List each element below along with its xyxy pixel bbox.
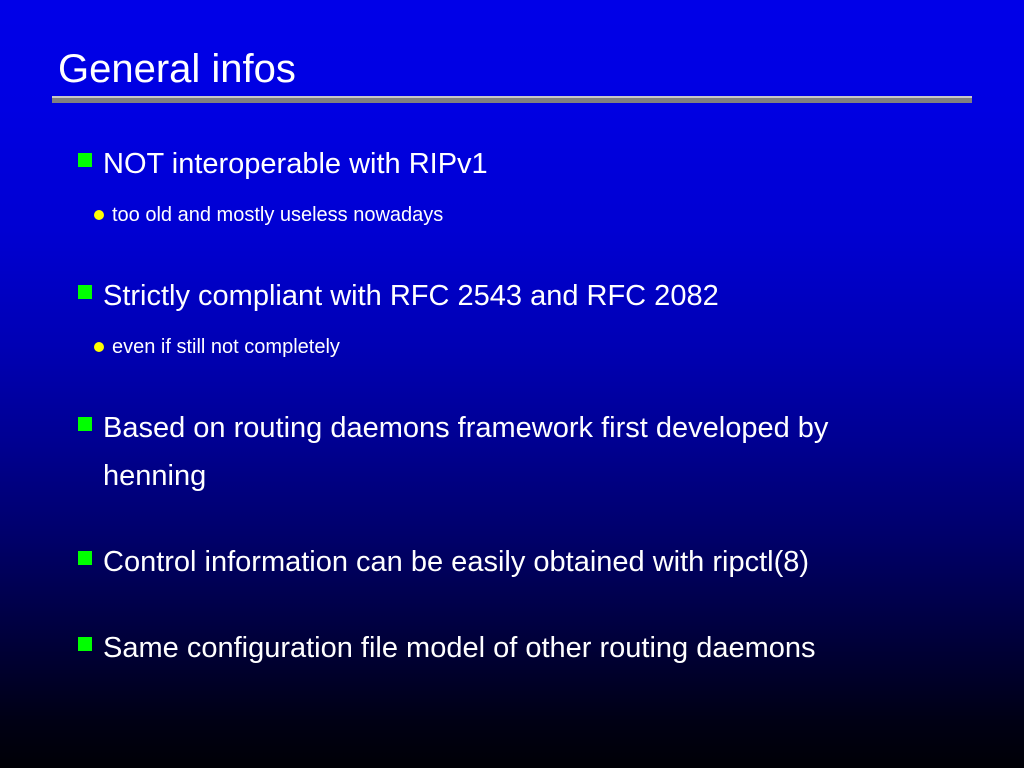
green-square-bullet-icon bbox=[78, 285, 92, 299]
slide-title-block: General infos bbox=[52, 44, 972, 94]
green-square-bullet-icon bbox=[78, 417, 92, 431]
yellow-dot-bullet-icon bbox=[94, 210, 104, 220]
list-item-label: NOT interoperable with RIPv1 bbox=[103, 140, 984, 188]
list-item-label: Strictly compliant with RFC 2543 and RFC… bbox=[103, 272, 984, 320]
list-item-label: Control information can be easily obtain… bbox=[103, 538, 984, 586]
spacer bbox=[0, 586, 1024, 624]
bullet-group: Strictly compliant with RFC 2543 and RFC… bbox=[0, 272, 1024, 362]
slide-body-bullet-list: NOT interoperable with RIPv1 too old and… bbox=[0, 140, 1024, 672]
spacer bbox=[0, 500, 1024, 538]
spacer bbox=[0, 230, 1024, 272]
spacer bbox=[0, 188, 1024, 200]
spacer bbox=[0, 362, 1024, 404]
list-item-label: too old and mostly useless nowadays bbox=[112, 200, 984, 230]
yellow-dot-bullet-icon bbox=[94, 342, 104, 352]
list-item: Control information can be easily obtain… bbox=[0, 538, 1024, 586]
title-underline-rule bbox=[52, 96, 972, 103]
bullet-group: Same configuration file model of other r… bbox=[0, 624, 1024, 672]
list-item: Based on routing daemons framework first… bbox=[0, 404, 1024, 500]
list-item-label: Based on routing daemons framework first… bbox=[103, 404, 910, 500]
presentation-slide: General infos NOT interoperable with RIP… bbox=[0, 0, 1024, 768]
list-item: too old and mostly useless nowadays bbox=[0, 200, 1024, 230]
green-square-bullet-icon bbox=[78, 551, 92, 565]
green-square-bullet-icon bbox=[78, 153, 92, 167]
bullet-group: Control information can be easily obtain… bbox=[0, 538, 1024, 586]
list-item: even if still not completely bbox=[0, 332, 1024, 362]
spacer bbox=[0, 320, 1024, 332]
list-item: Same configuration file model of other r… bbox=[0, 624, 1024, 672]
green-square-bullet-icon bbox=[78, 637, 92, 651]
list-item: NOT interoperable with RIPv1 bbox=[0, 140, 1024, 188]
bullet-group: Based on routing daemons framework first… bbox=[0, 404, 1024, 500]
list-item: Strictly compliant with RFC 2543 and RFC… bbox=[0, 272, 1024, 320]
page-title: General infos bbox=[52, 44, 972, 94]
list-item-label: Same configuration file model of other r… bbox=[103, 624, 984, 672]
bullet-group: NOT interoperable with RIPv1 too old and… bbox=[0, 140, 1024, 230]
list-item-label: even if still not completely bbox=[112, 332, 984, 362]
